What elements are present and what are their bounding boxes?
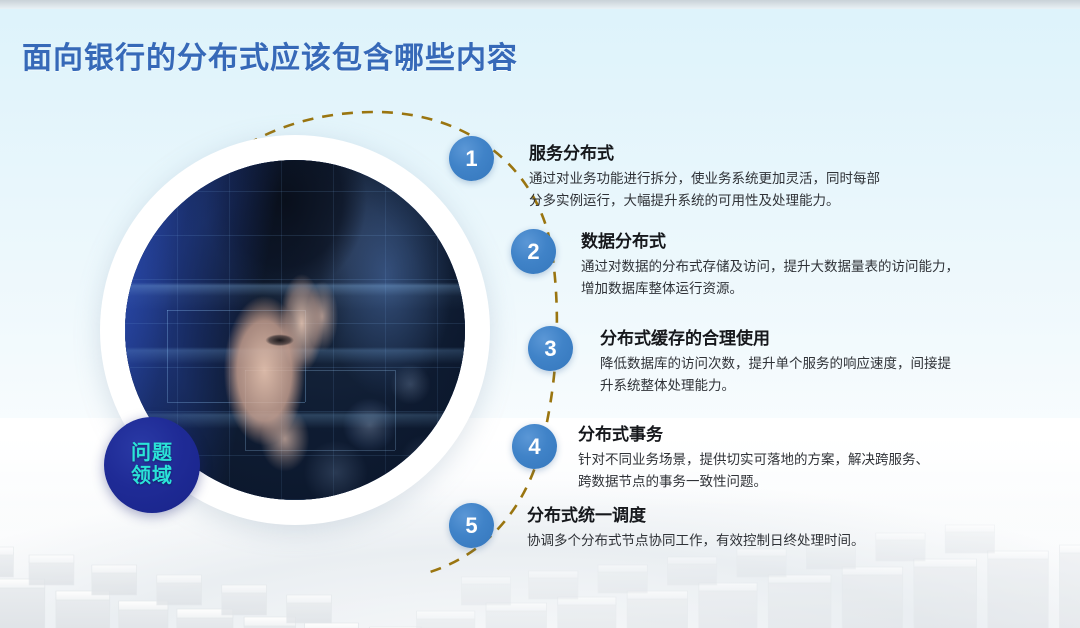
item-number-badge-4: 4: [512, 424, 557, 469]
top-chrome-bar: [0, 0, 1080, 9]
item-number-badge-3: 3: [528, 326, 573, 371]
item-text-2: 数据分布式 通过对数据的分布式存储及访问，提升大数据量表的访问能力， 增加数据库…: [581, 231, 1051, 300]
item-title-5: 分布式统一调度: [527, 505, 997, 527]
item-number-badge-5: 5: [449, 503, 494, 548]
page-title: 面向银行的分布式应该包含哪些内容: [22, 33, 518, 77]
item-title-2: 数据分布式: [581, 231, 1051, 253]
item-number-badge-1: 1: [449, 136, 494, 181]
item-text-1: 服务分布式 通过对业务功能进行拆分，使业务系统更加灵活，同时每部 分多实例运行，…: [529, 143, 999, 212]
item-desc-2: 通过对数据的分布式存储及访问，提升大数据量表的访问能力， 增加数据库整体运行资源…: [581, 256, 1051, 300]
item-title-4: 分布式事务: [578, 424, 1048, 446]
item-number-badge-2: 2: [511, 229, 556, 274]
item-desc-4: 针对不同业务场景，提供切实可落地的方案，解决跨服务、 跨数据节点的事务一致性问题…: [578, 449, 1048, 493]
item-title-3: 分布式缓存的合理使用: [600, 328, 1070, 350]
item-text-5: 分布式统一调度 协调多个分布式节点协同工作，有效控制日终处理时间。: [527, 505, 997, 552]
slide-canvas: 面向银行的分布式应该包含哪些内容 问题 领域 1 服务分布式 通过对业务功能进行…: [0, 0, 1080, 628]
item-desc-3: 降低数据库的访问次数，提升单个服务的响应速度，间接提 升系统整体处理能力。: [600, 353, 1070, 397]
item-desc-5: 协调多个分布式节点协同工作，有效控制日终处理时间。: [527, 530, 997, 552]
problem-domain-line-1: 问题: [131, 442, 173, 465]
item-text-4: 分布式事务 针对不同业务场景，提供切实可落地的方案，解决跨服务、 跨数据节点的事…: [578, 424, 1048, 493]
item-desc-1: 通过对业务功能进行拆分，使业务系统更加灵活，同时每部 分多实例运行，大幅提升系统…: [529, 168, 999, 212]
item-title-1: 服务分布式: [529, 143, 999, 165]
problem-domain-badge: 问题 领域: [104, 417, 200, 513]
item-text-3: 分布式缓存的合理使用 降低数据库的访问次数，提升单个服务的响应速度，间接提 升系…: [600, 328, 1070, 397]
problem-domain-line-2: 领域: [131, 465, 173, 488]
